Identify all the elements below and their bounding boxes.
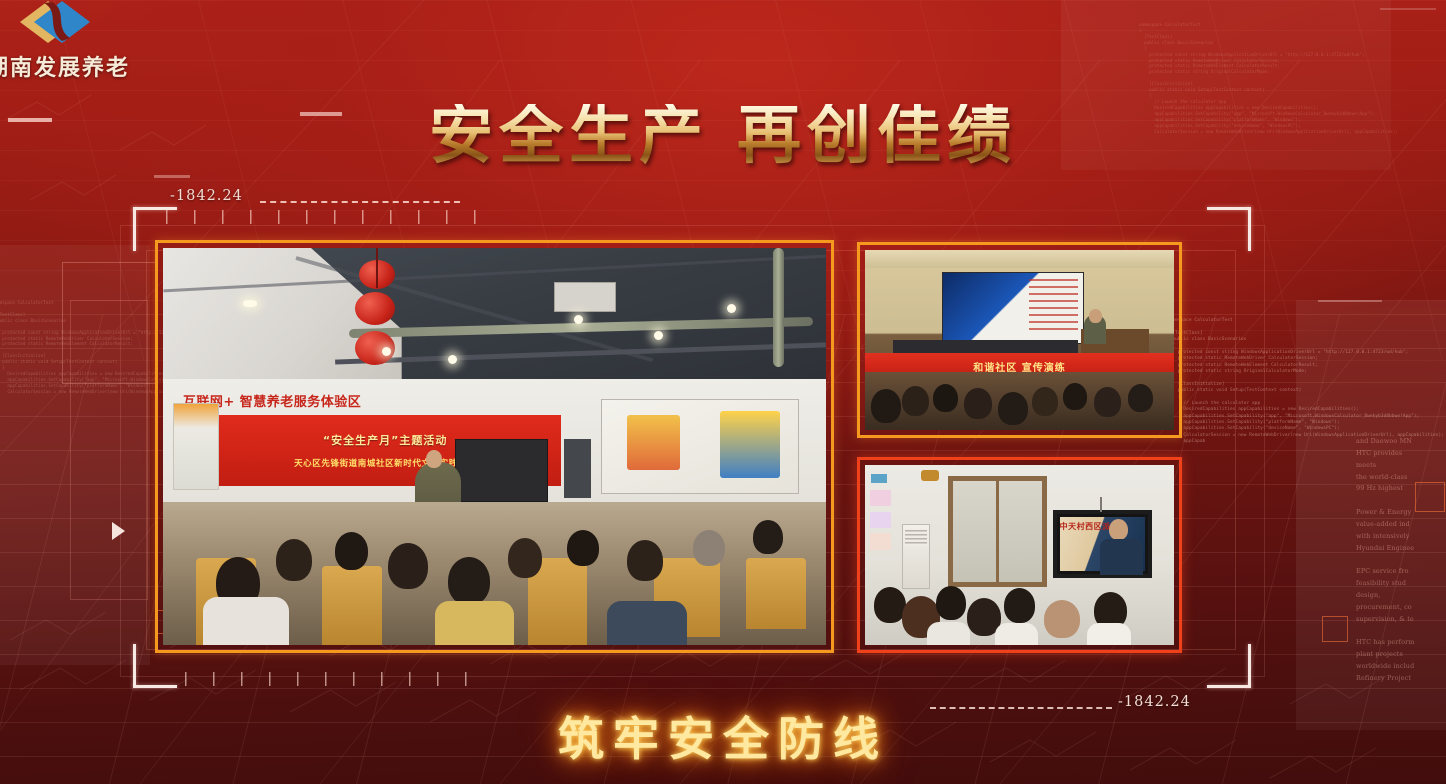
- tick-marks-bottom: [185, 672, 470, 686]
- photo2-audience-head-5: [998, 392, 1028, 425]
- photo-bottom-right: 中天村西区派: [865, 465, 1174, 645]
- photo3-viewer-head-5: [1004, 588, 1035, 623]
- photo3-tv-person-head: [1109, 519, 1128, 540]
- tick-marks-top: [166, 210, 486, 224]
- photo-screen-graphic-1: [627, 415, 680, 471]
- poster-stage: namespace CalculatorTest { [TestClass] p…: [0, 0, 1446, 784]
- photo-main: 互联网+ 智慧养老服务体验区 “安全生产月”主题活动 天心区先锋街道南城社区新时…: [163, 248, 826, 645]
- photo3-viewer-shirt-1: [927, 622, 970, 645]
- decor-glow-box-right: [1322, 616, 1348, 642]
- photo-audience-head-3: [335, 532, 368, 570]
- photo-audience-head-2: [276, 539, 312, 581]
- ghost-photo-right: [1296, 300, 1446, 730]
- bottom-slogan: 筑牢安全防线: [558, 716, 888, 762]
- photo-audience-clothing-3: [607, 601, 687, 645]
- photo3-tv-mount: [1100, 497, 1102, 511]
- photo3-ac-vent: [905, 530, 927, 546]
- photo-banner-line1: “安全生产月”主题活动: [323, 432, 447, 448]
- decor-bar-mid-left: [154, 175, 190, 178]
- brand-name: 湖南发展养老: [0, 50, 130, 82]
- photo3-wall-icon: [871, 474, 886, 483]
- brand-block: 湖南发展养老: [0, 0, 230, 95]
- photo3-wall-poster-2: [870, 512, 892, 528]
- page-title-part2: 再创佳绩: [723, 104, 1031, 168]
- photo-spotlight-4: [382, 347, 391, 356]
- photo-top-right: 和谐社区 宣传演练: [865, 250, 1174, 430]
- photo-spotlight-6: [243, 300, 257, 307]
- photo2-audience-head-4: [964, 388, 992, 419]
- english-text-overlay-right: and Daewoo MN HTC provides meets the wor…: [1356, 436, 1442, 685]
- photo2-audience-head-1: [871, 389, 901, 423]
- photo-audience-head-4: [388, 543, 428, 589]
- photo-poster-left: [173, 403, 219, 490]
- photo-audience-clothing-1: [203, 597, 289, 645]
- photo3-tv-caption-text: 中天村西区派: [1060, 522, 1111, 531]
- photo-main-frame[interactable]: 互联网+ 智慧养老服务体验区 “安全生产月”主题活动 天心区先锋街道南城社区新时…: [155, 240, 834, 653]
- decor-bar-top-right: [1380, 8, 1436, 10]
- photo-top-right-frame[interactable]: 和谐社区 宣传演练: [857, 242, 1182, 438]
- photo3-tv-caption: 中天村西区派: [1060, 521, 1111, 532]
- photo3-window-divider: [996, 476, 999, 588]
- photo-audience-head-7: [567, 530, 599, 566]
- photo2-audience-head-7: [1063, 383, 1087, 410]
- photo3-tv-person-body: [1100, 539, 1143, 575]
- photo-chair-2: [322, 566, 382, 645]
- photo2-screen-text: [1029, 279, 1078, 333]
- photo-speaker: [564, 439, 591, 499]
- photo-audience-head-10: [753, 520, 783, 554]
- photo-screen-graphic-2: [720, 411, 780, 478]
- photo-audience-clothing-2: [435, 601, 515, 645]
- photo-chair-5: [746, 558, 806, 629]
- corner-bracket-bottom-right: [1207, 644, 1251, 688]
- photo3-wall-emblem: [921, 470, 940, 481]
- photo-audience-head-6: [508, 538, 542, 578]
- corner-bracket-top-right: [1207, 207, 1251, 251]
- photo-projector-mount: [554, 282, 616, 312]
- photo-presenter-head: [426, 450, 442, 468]
- axis-label-bottom-right: -1842.24: [1118, 694, 1191, 710]
- photo-lantern-cord: [376, 248, 378, 288]
- title-block: 安全生产再创佳绩: [0, 104, 1446, 168]
- photo2-audience-head-2: [902, 386, 929, 416]
- photo-audience-head-5: [448, 557, 490, 605]
- photo-audience-head-9: [693, 530, 725, 566]
- photo2-speaker-head: [1089, 309, 1102, 323]
- axis-label-top-left: -1842.24: [170, 188, 243, 204]
- photo3-viewer-shirt-2: [995, 623, 1038, 645]
- photo2-audience-head-9: [1128, 384, 1153, 412]
- photo-pipe-vertical: [773, 248, 784, 367]
- photo-tv-dark: [455, 439, 548, 503]
- photo3-viewer-head-6: [1044, 600, 1080, 638]
- photo2-seats-row: [893, 340, 1078, 353]
- diamond-logo-icon: [18, 0, 90, 44]
- photo-lantern-2: [355, 292, 395, 325]
- photo-spotlight-3: [727, 304, 736, 313]
- dashed-line-bottom: [930, 707, 1112, 709]
- photo-spotlight-2: [654, 331, 663, 340]
- photo3-viewer-head-3: [936, 586, 966, 620]
- photo3-wall-poster-3: [870, 533, 892, 549]
- decor-glow-box-far-right: [1415, 482, 1445, 512]
- photo2-ceiling: [865, 250, 1174, 268]
- photo2-audience-head-8: [1094, 387, 1121, 417]
- photo2-audience-head-6: [1032, 387, 1058, 416]
- dashed-line-top: [260, 201, 460, 203]
- page-title-part1: 安全生产: [415, 104, 723, 168]
- photo2-audience-head-3: [933, 384, 958, 412]
- slogan-block: 筑牢安全防线: [0, 716, 1446, 762]
- photo-bottom-right-frame[interactable]: 中天村西区派: [857, 457, 1182, 653]
- decor-bar-right: [1318, 300, 1382, 302]
- photo3-viewer-shirt-3: [1087, 623, 1130, 645]
- photo3-wall-poster-1: [870, 490, 892, 506]
- play-triangle-icon[interactable]: [112, 522, 125, 540]
- photo-audience-head-8: [627, 540, 663, 581]
